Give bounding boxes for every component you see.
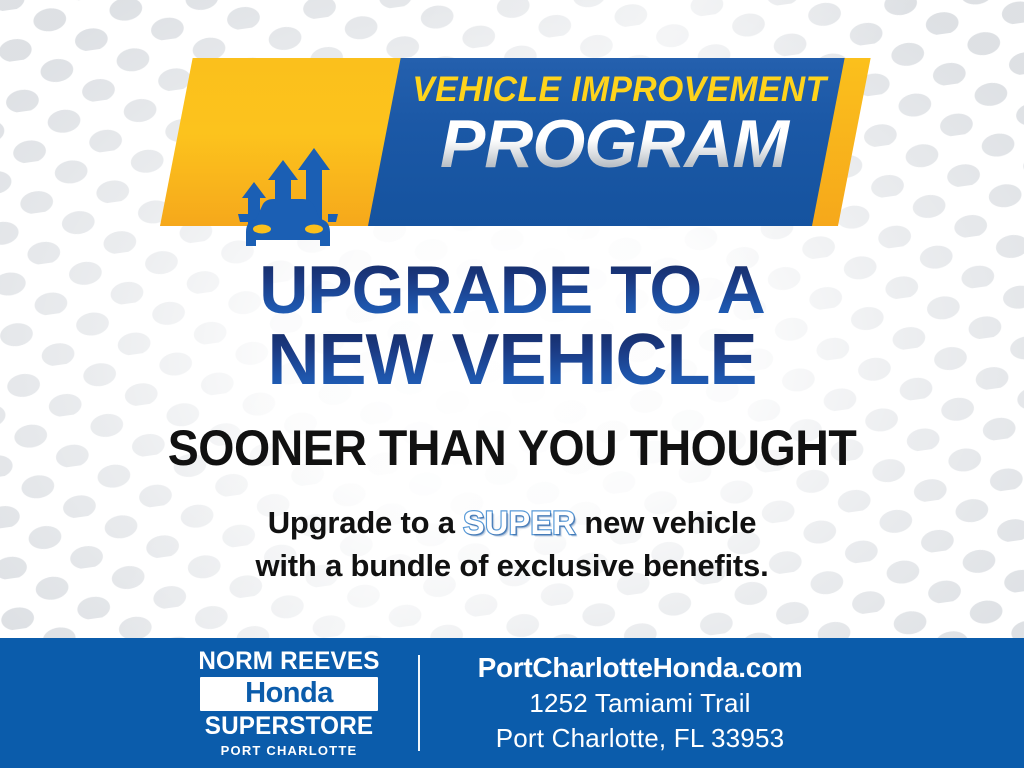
dealer-logo-brand-bar: Honda [200, 677, 378, 711]
footer-vertical-divider [418, 655, 420, 751]
body-copy-line-1-suffix: new vehicle [584, 505, 756, 540]
body-copy-line-1-prefix: Upgrade to a [268, 505, 455, 540]
dealer-footer-bar: NORM REEVES Honda SUPERSTORE PORT CHARLO… [0, 638, 1024, 768]
super-highlight-word: SUPER [463, 501, 576, 545]
banner-title: PROGRAM [404, 111, 824, 178]
dealer-street-address: 1252 Tamiami Trail [450, 688, 830, 720]
banner-text-block: VEHICLE IMPROVEMENT PROGRAM [404, 72, 824, 178]
dealer-logo-top-line: NORM REEVES [197, 649, 381, 674]
body-copy-line-2: with a bundle of exclusive benefits. [0, 545, 1024, 588]
dealer-logo-city: PORT CHARLOTTE [194, 744, 384, 757]
body-copy-line-1: Upgrade to a SUPER new vehicle [0, 500, 1024, 545]
banner-subtitle: VEHICLE IMPROVEMENT [412, 72, 815, 107]
dealer-contact-block: PortCharlotteHonda.com 1252 Tamiami Trai… [450, 651, 830, 755]
headline-line-1: UPGRADE TO A [0, 258, 1024, 324]
subheadline: SOONER THAN YOU THOUGHT [36, 423, 988, 473]
car-with-rising-arrows-icon [228, 136, 340, 258]
advertisement-banner: VEHICLE IMPROVEMENT PROGRAM UPGRADE TO A… [0, 0, 1024, 768]
dealer-logo-brand: Honda [200, 679, 378, 708]
headline-line-2: NEW VEHICLE [0, 326, 1024, 396]
dealer-city-state-zip: Port Charlotte, FL 33953 [450, 723, 830, 755]
dealer-website-link[interactable]: PortCharlotteHonda.com [450, 651, 830, 685]
dealer-logo-bottom-line: SUPERSTORE [197, 714, 381, 739]
dealer-logo[interactable]: NORM REEVES Honda SUPERSTORE PORT CHARLO… [194, 649, 384, 757]
headline-block: UPGRADE TO A NEW VEHICLE [0, 258, 1024, 396]
body-copy-block: Upgrade to a SUPER new vehicle with a bu… [0, 500, 1024, 588]
program-banner: VEHICLE IMPROVEMENT PROGRAM [0, 58, 1024, 226]
